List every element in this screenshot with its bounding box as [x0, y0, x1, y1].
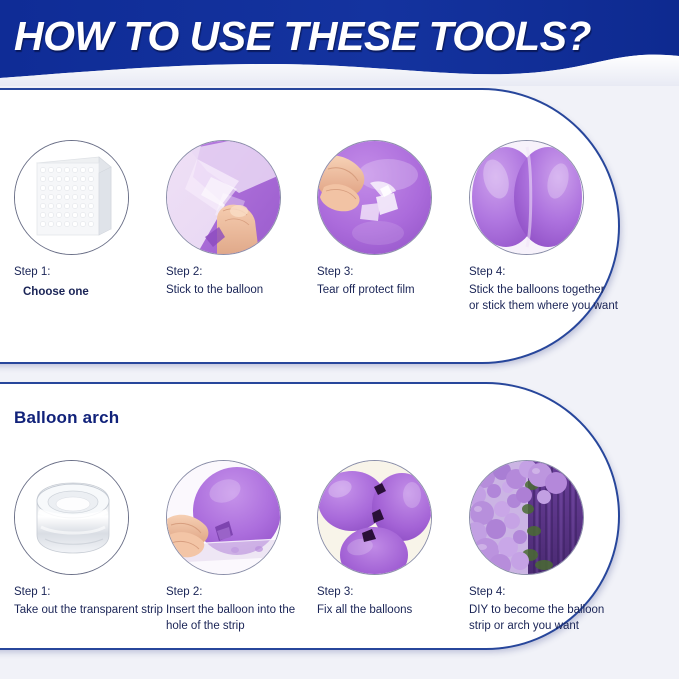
step-text: Tear off protect film [317, 282, 472, 298]
transparent-tape-roll-image [14, 460, 129, 575]
step-label: Step 1: [14, 264, 169, 281]
step-label: Step 4: [469, 584, 624, 601]
step-text: DIY to become the balloon strip or arch … [469, 602, 624, 635]
step-label: Step 3: [317, 264, 472, 281]
balloons-fixed-on-strip-image [317, 460, 432, 575]
step-item: Step 3: Fix all the balloons [317, 460, 472, 618]
step-text: Stick the balloons together or stick the… [469, 282, 624, 315]
hand-peeling-protect-film-image [317, 140, 432, 255]
step-label: Step 2: [166, 264, 321, 281]
glue-dot-sheet-image [14, 140, 129, 255]
panel-balloon-arch: Balloon arch [0, 382, 620, 650]
step-label: Step 2: [166, 584, 321, 601]
header-banner: HOW TO USE THESE TOOLS? [0, 0, 679, 86]
finished-balloon-arch-image [469, 460, 584, 575]
step-item: Step 4: DIY to become the balloon strip … [469, 460, 624, 634]
step-item: Step 3: Tear off protect film [317, 140, 472, 298]
step-label: Step 3: [317, 584, 472, 601]
hand-inserting-balloon-into-strip-image [166, 460, 281, 575]
panel-glue-dots: Step 1: Choose one [0, 88, 620, 364]
step-label: Step 4: [469, 264, 624, 281]
step-item: Step 2: Stick to the balloon [166, 140, 321, 298]
step-text: Insert the balloon into the hole of the … [166, 602, 321, 635]
step-text: Choose one [14, 284, 169, 300]
step-text: Take out the transparent strip [14, 602, 169, 618]
step-item: Step 2: Insert the balloon into the hole… [166, 460, 321, 634]
step-item: Step 4: Stick the balloons together or s… [469, 140, 624, 314]
page-title: HOW TO USE THESE TOOLS? [14, 13, 591, 60]
step-item: Step 1: Choose one [14, 140, 169, 300]
step-label: Step 1: [14, 584, 169, 601]
step-text: Fix all the balloons [317, 602, 472, 618]
step-item: Step 1: Take out the transparent strip [14, 460, 169, 618]
step-text: Stick to the balloon [166, 282, 321, 298]
hand-sticking-dot-to-balloon-image [166, 140, 281, 255]
two-balloons-stuck-together-image [469, 140, 584, 255]
